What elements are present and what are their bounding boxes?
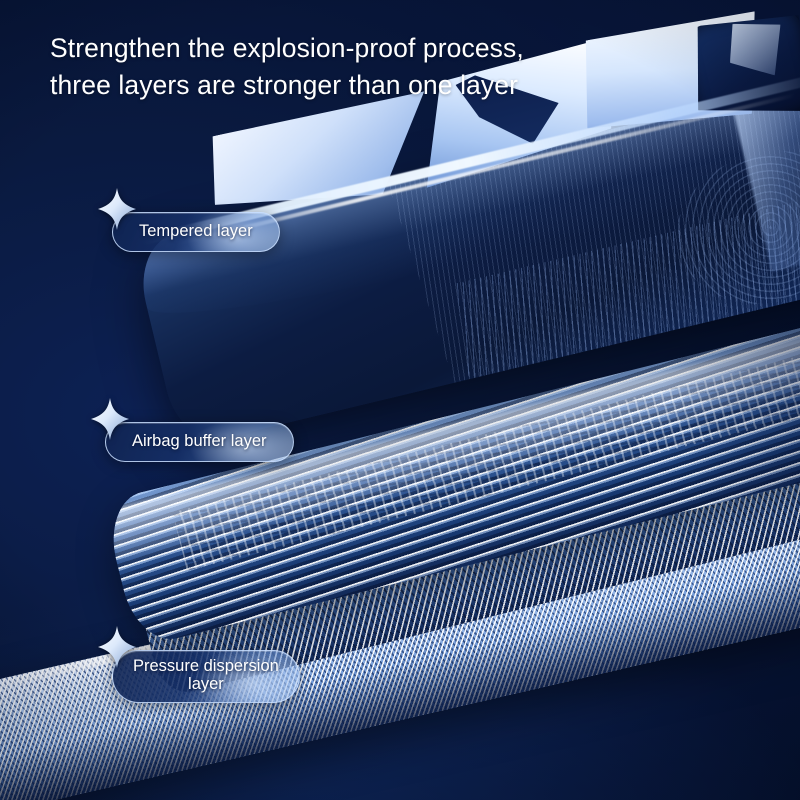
headline-line-1: Strengthen the explosion-proof process, <box>50 30 690 67</box>
callout-tempered-layer[interactable]: Tempered layer <box>112 212 280 257</box>
promo-graphic: Strengthen the explosion-proof process, … <box>0 0 800 800</box>
callout-label-line-1: Pressure dispersion <box>133 658 279 676</box>
callout-label-line-2: layer <box>133 676 279 694</box>
callout-label: Tempered layer <box>139 222 253 241</box>
callout-pressure-dispersion-layer[interactable]: Pressure dispersion layer <box>112 650 300 708</box>
callout-label: Airbag buffer layer <box>132 432 267 451</box>
callout-pill[interactable]: Pressure dispersion layer <box>112 650 300 703</box>
headline-line-2: three layers are stronger than one layer <box>50 67 690 104</box>
callout-pill[interactable]: Tempered layer <box>112 212 280 252</box>
callout-airbag-buffer-layer[interactable]: Airbag buffer layer <box>105 422 294 467</box>
page-title: Strengthen the explosion-proof process, … <box>50 30 690 103</box>
callout-pill[interactable]: Airbag buffer layer <box>105 422 294 462</box>
